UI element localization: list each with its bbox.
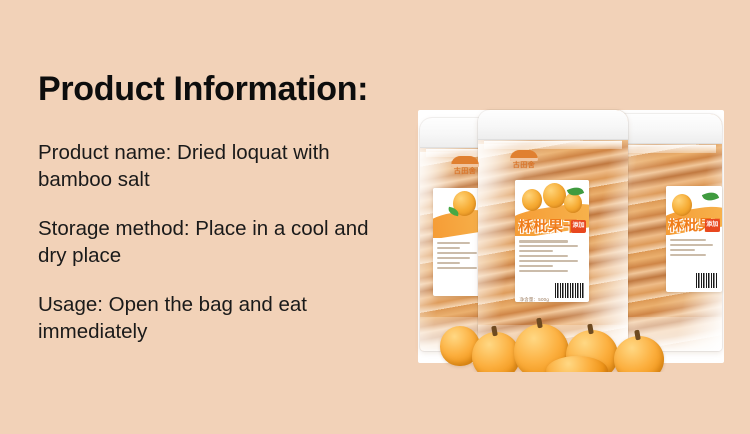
label-artwork-right: 柇枇果干 添加	[666, 186, 722, 235]
crown-icon	[510, 150, 538, 161]
stem-icon	[491, 326, 498, 337]
loquat-illustration-icon	[522, 189, 542, 211]
background-lower-band	[0, 372, 750, 434]
brand-name-left: 古田舍	[447, 167, 483, 177]
text-column: Product Information: Product name: Dried…	[38, 70, 408, 345]
label-badge-right: 添加	[705, 219, 720, 232]
loquat-illustration-icon	[672, 194, 692, 216]
label-ingredients-middle: 净含量：500g	[515, 236, 589, 302]
info-line-storage-method: Storage method: Place in a cool and dry …	[38, 215, 393, 269]
brand-name-middle: 古田舍	[506, 161, 542, 171]
label-artwork-middle: 柇枇果干 添加	[515, 180, 589, 236]
page-title: Product Information:	[38, 70, 408, 109]
leaf-icon	[701, 189, 718, 203]
stem-icon	[634, 330, 641, 341]
stem-icon	[536, 318, 543, 329]
stem-icon	[587, 324, 594, 335]
info-line-usage: Usage: Open the bag and eat immediately	[38, 291, 393, 345]
product-information-banner: Product Information: Product name: Dried…	[0, 0, 750, 434]
label-badge-middle: 添加	[571, 220, 586, 233]
crown-icon	[451, 156, 479, 167]
info-line-product-name: Product name: Dried loquat with bamboo s…	[38, 139, 393, 193]
label-ingredients-right	[666, 235, 722, 292]
brand-logo-middle: 古田舍	[506, 150, 542, 174]
barcode-middle	[555, 283, 585, 298]
brand-logo-left: 古田舍	[447, 156, 483, 180]
barcode-right	[696, 273, 718, 288]
background-right-band	[724, 0, 750, 434]
product-label-middle: 柇枇果干 添加 净含量：500g	[515, 180, 589, 302]
product-label-right: 柇枇果干 添加	[666, 186, 722, 292]
